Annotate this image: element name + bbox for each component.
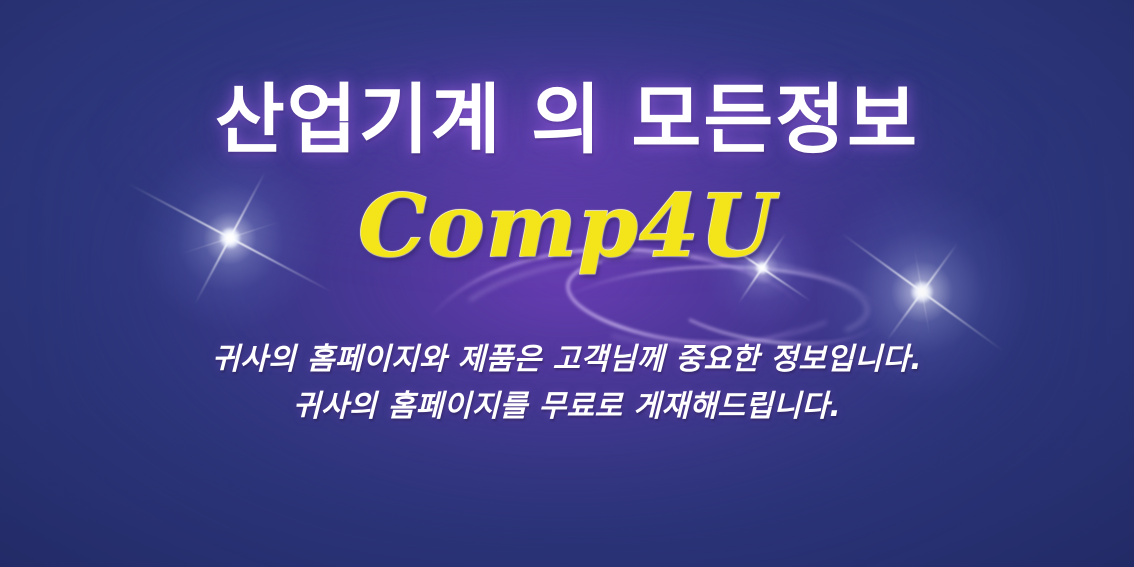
tagline: 귀사의 홈페이지와 제품은 고객님께 중요한 정보입니다. 귀사의 홈페이지를 …: [212, 336, 922, 431]
brand-logo: Comp4U: [358, 184, 776, 270]
page-title: 산업기계 의 모든정보: [215, 80, 919, 160]
tagline-line-1: 귀사의 홈페이지와 제품은 고객님께 중요한 정보입니다.: [212, 336, 922, 383]
promo-banner: 산업기계 의 모든정보 Comp4U 귀사의 홈페이지와 제품은 고객님께 중요…: [0, 0, 1134, 567]
banner-content: 산업기계 의 모든정보 Comp4U 귀사의 홈페이지와 제품은 고객님께 중요…: [0, 0, 1134, 567]
tagline-line-2: 귀사의 홈페이지를 무료로 게재해드립니다.: [212, 383, 922, 430]
